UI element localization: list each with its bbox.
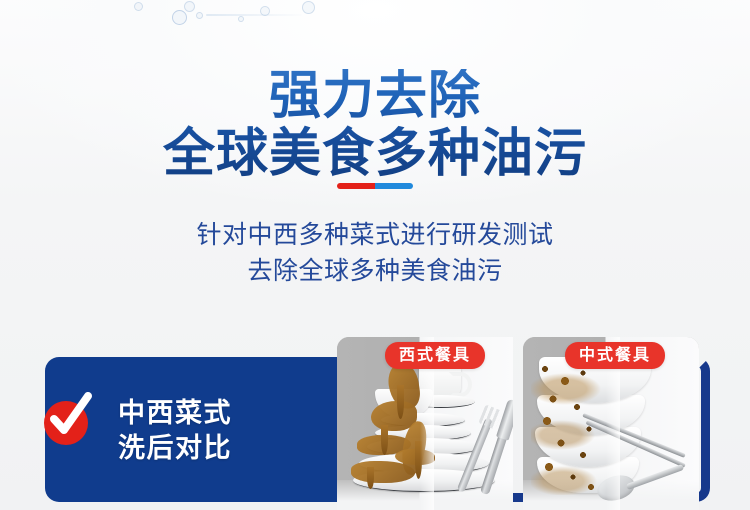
headline-line-1: 强力去除 (0, 69, 750, 123)
comparison-panel-text: 中西菜式 洗后对比 (118, 396, 232, 465)
bubble-icon (134, 2, 143, 11)
bubble-decoration (110, 0, 310, 42)
panel-text-line-1: 中西菜式 (118, 396, 232, 431)
grease-drip (397, 385, 404, 419)
subtitle-line-1: 针对中西多种菜式进行研发测试 (0, 218, 750, 254)
check-circle-icon (44, 401, 88, 445)
bubble-icon (172, 10, 187, 25)
card-label-chinese: 中式餐具 (565, 342, 665, 369)
grease-drip (381, 425, 388, 455)
subtitle: 针对中西多种菜式进行研发测试 去除全球多种美食油污 (0, 218, 750, 289)
bubble-icon (238, 16, 244, 22)
spoon-handle (626, 464, 684, 490)
card-label-western: 西式餐具 (385, 342, 485, 369)
check-mark-icon (42, 392, 96, 446)
bubble-icon (184, 1, 195, 12)
photo-card-chinese: 中式餐具 (523, 337, 699, 510)
divider-segment-blue (375, 183, 413, 189)
photo-card-western: 西式餐具 (337, 337, 513, 510)
bubble-streak (206, 14, 302, 16)
grease-drip (367, 467, 374, 489)
bubble-icon (260, 6, 270, 16)
divider-segment-red (337, 183, 375, 189)
promo-poster: 强力去除 全球美食多种油污 针对中西多种菜式进行研发测试 去除全球多种美食油污 … (0, 0, 750, 510)
cutlery-group (437, 400, 509, 496)
panel-text-line-2: 洗后对比 (118, 431, 232, 466)
bubble-icon (196, 12, 203, 19)
spoon-icon (597, 458, 681, 502)
title-divider (337, 183, 413, 189)
bubble-icon (302, 1, 315, 14)
headline-line-2: 全球美食多种油污 (0, 127, 750, 181)
grease-drip (415, 441, 422, 479)
page-title: 强力去除 全球美食多种油污 (0, 69, 750, 181)
subtitle-line-2: 去除全球多种美食油污 (0, 254, 750, 290)
comparison-block: 中西菜式 洗后对比 (0, 320, 750, 510)
